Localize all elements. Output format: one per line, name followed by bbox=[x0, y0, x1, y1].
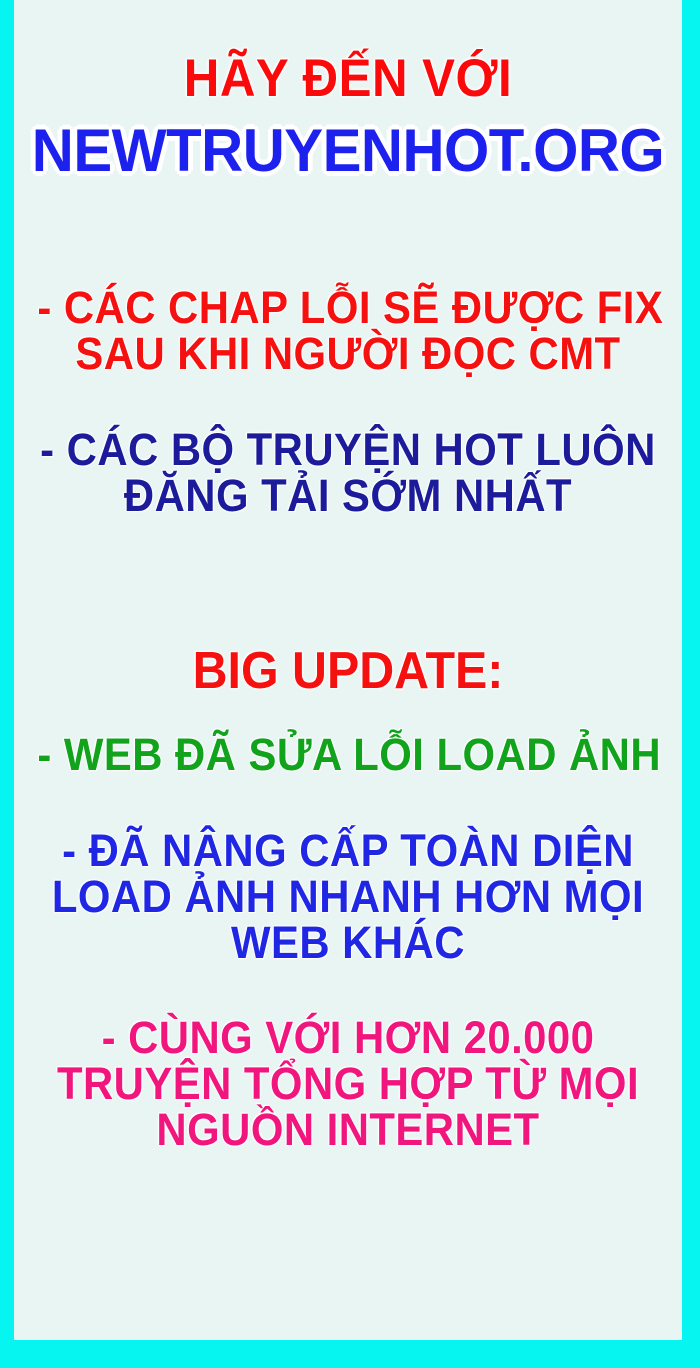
notice-red-group: - CÁC CHAP LỖI SẼ ĐƯỢC FIX SAU KHI NGƯỜI… bbox=[14, 285, 682, 377]
update-pink-line-2: TRUYỆN TỔNG HỢP TỪ MỌI bbox=[37, 1061, 658, 1107]
update-green-line-1: - WEB ĐÃ SỬA LỖI LOAD ẢNH bbox=[37, 732, 658, 778]
update-blue-line-1: - ĐÃ NÂNG CẤP TOÀN DIỆN bbox=[37, 828, 658, 874]
promo-poster: HÃY ĐẾN VỚI NEWTRUYENHOT.ORG - CÁC CHAP … bbox=[0, 0, 700, 1368]
poster-panel: HÃY ĐẾN VỚI NEWTRUYENHOT.ORG - CÁC CHAP … bbox=[14, 0, 682, 1340]
update-pink-group: - CÙNG VỚI HƠN 20.000 TRUYỆN TỔNG HỢP TỪ… bbox=[14, 1015, 682, 1153]
notice-navy-line-2: ĐĂNG TẢI SỚM NHẤT bbox=[37, 473, 658, 519]
notice-navy-group: - CÁC BỘ TRUYỆN HOT LUÔN ĐĂNG TẢI SỚM NH… bbox=[14, 427, 682, 519]
update-pink-line-1: - CÙNG VỚI HƠN 20.000 bbox=[37, 1015, 658, 1061]
notice-red-line-1: - CÁC CHAP LỖI SẼ ĐƯỢC FIX bbox=[37, 285, 658, 331]
big-update-group: BIG UPDATE: bbox=[14, 645, 682, 698]
notice-red-line-2: SAU KHI NGƯỜI ĐỌC CMT bbox=[37, 331, 658, 377]
headline-group: HÃY ĐẾN VỚI NEWTRUYENHOT.ORG bbox=[14, 52, 682, 181]
big-update-title: BIG UPDATE: bbox=[37, 645, 658, 698]
brand-url-text[interactable]: NEWTRUYENHOT.ORG bbox=[24, 120, 672, 181]
update-blue-line-2: LOAD ẢNH NHANH HƠN MỌI bbox=[37, 874, 658, 920]
update-blue-group: - ĐÃ NÂNG CẤP TOÀN DIỆN LOAD ẢNH NHANH H… bbox=[14, 828, 682, 966]
update-blue-line-3: WEB KHÁC bbox=[37, 920, 658, 966]
headline-line-1: HÃY ĐẾN VỚI bbox=[37, 52, 658, 106]
update-green-group: - WEB ĐÃ SỬA LỖI LOAD ẢNH bbox=[14, 732, 682, 778]
notice-navy-line-1: - CÁC BỘ TRUYỆN HOT LUÔN bbox=[37, 427, 658, 473]
update-pink-line-3: NGUỒN INTERNET bbox=[37, 1107, 658, 1153]
